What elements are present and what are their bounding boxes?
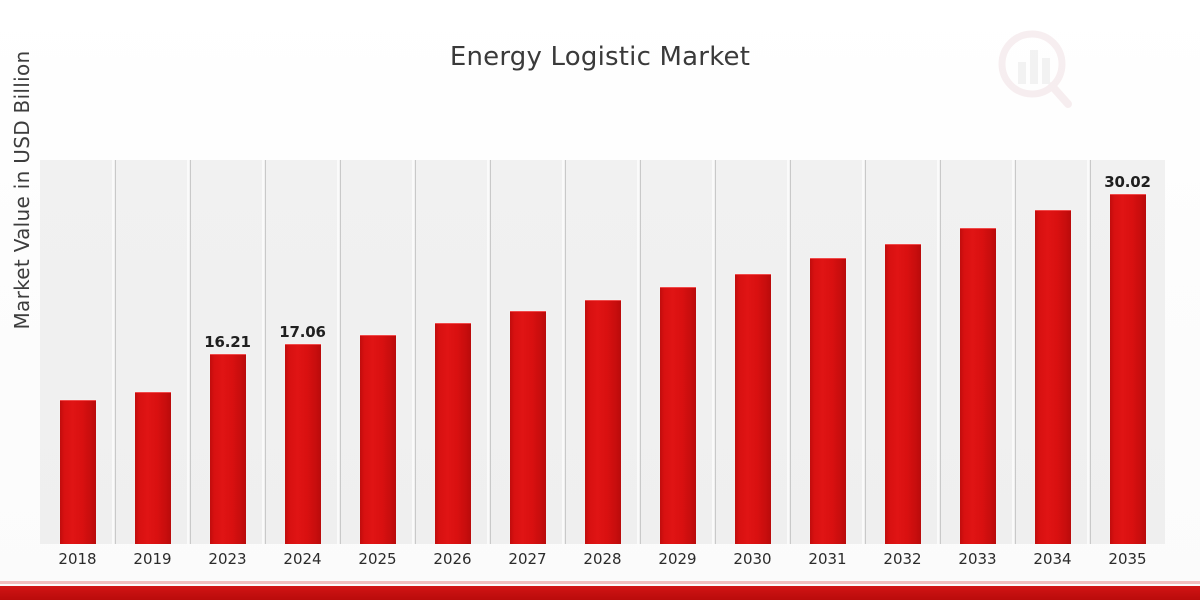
x-tick-label: 2027: [508, 550, 546, 568]
footer-accent-band: [0, 586, 1200, 600]
bar-group: 30.02: [1090, 160, 1165, 544]
x-tick-label: 2025: [358, 550, 396, 568]
bar[interactable]: [60, 400, 96, 544]
bar-group: 17.06: [265, 160, 340, 544]
bar[interactable]: [810, 258, 846, 544]
bar-group: [340, 160, 415, 544]
x-tick-label: 2031: [808, 550, 846, 568]
bar-group: [115, 160, 190, 544]
bar[interactable]: [210, 354, 246, 544]
x-tick-label: 2019: [133, 550, 171, 568]
x-tick-label: 2029: [658, 550, 696, 568]
plot-area: 16.2117.0630.02: [40, 160, 1165, 544]
x-tick-label: 2028: [583, 550, 621, 568]
x-tick-label: 2023: [208, 550, 246, 568]
bar-value-label: 16.21: [204, 333, 250, 351]
bar[interactable]: [960, 228, 996, 544]
bar[interactable]: [660, 287, 696, 544]
bar[interactable]: [585, 300, 621, 544]
y-axis-label: Market Value in USD Billion: [10, 0, 34, 390]
bar[interactable]: [735, 274, 771, 544]
bar[interactable]: [135, 392, 171, 544]
x-tick-label: 2034: [1033, 550, 1071, 568]
bar-group: [790, 160, 865, 544]
x-tick-label: 2026: [433, 550, 471, 568]
x-tick-label: 2030: [733, 550, 771, 568]
bar-group: 16.21: [190, 160, 265, 544]
bar-group: [490, 160, 565, 544]
x-tick-label: 2033: [958, 550, 996, 568]
bar-group: [640, 160, 715, 544]
bar[interactable]: [360, 335, 396, 544]
chart-figure: Energy Logistic Market Market Value in U…: [0, 0, 1200, 600]
x-axis-tick-labels: 2018201920232024202520262027202820292030…: [40, 550, 1165, 574]
bar-group: [940, 160, 1015, 544]
bar-group: [40, 160, 115, 544]
x-tick-label: 2035: [1108, 550, 1146, 568]
bar-series: 16.2117.0630.02: [40, 160, 1165, 544]
bar[interactable]: [1035, 210, 1071, 544]
bar-group: [565, 160, 640, 544]
page-title: Energy Logistic Market: [0, 42, 1200, 72]
bar-group: [415, 160, 490, 544]
x-tick-label: 2018: [58, 550, 96, 568]
bar[interactable]: [435, 323, 471, 544]
bar[interactable]: [1110, 194, 1146, 544]
bar-group: [715, 160, 790, 544]
bar-value-label: 17.06: [279, 323, 325, 341]
bar[interactable]: [510, 311, 546, 544]
x-tick-label: 2024: [283, 550, 321, 568]
bar-value-label: 30.02: [1104, 173, 1150, 191]
bar-group: [865, 160, 940, 544]
bar[interactable]: [285, 344, 321, 544]
bar[interactable]: [885, 244, 921, 544]
x-tick-label: 2032: [883, 550, 921, 568]
footer-divider: [0, 581, 1200, 584]
bar-group: [1015, 160, 1090, 544]
